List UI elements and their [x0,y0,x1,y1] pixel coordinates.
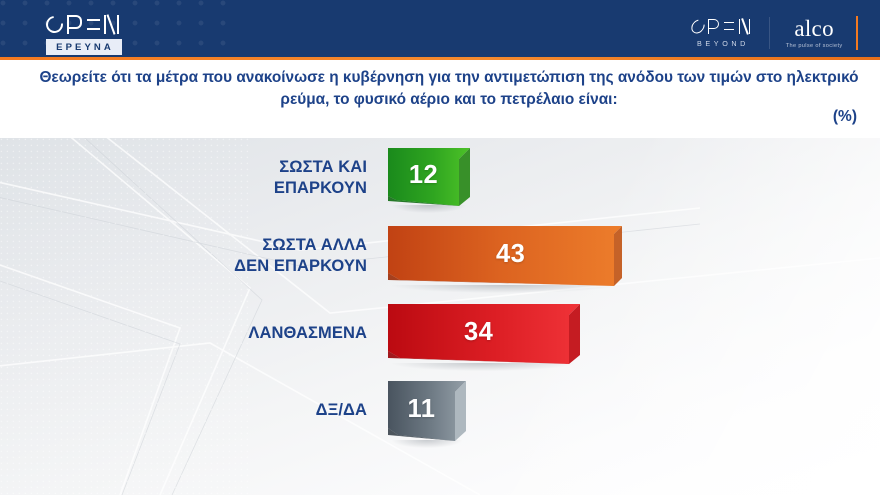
letter-e-icon [723,19,735,34]
bar-value: 12 [388,148,470,206]
bar-rows: ΣΩΣΤΑ ΚΑΙ ΕΠΑΡΚΟΥΝ 12 [0,138,880,495]
bar-value: 11 [388,381,466,441]
open-ereyna-logo: ΕΡΕΥΝΑ [46,13,122,55]
partner-logos: BEYOND alco The pulse of society [692,15,858,50]
bar-value: 34 [388,304,580,364]
letter-p-icon [708,19,720,34]
open-beyond-subtitle: BEYOND [692,39,751,48]
header-bar: ΕΡΕΥΝΑ BEYOND alco The pulse of society [0,0,880,60]
bar-value: 43 [388,226,622,286]
bar-shadow [392,363,574,371]
letter-e-icon [86,15,100,34]
letter-o-icon [43,12,67,36]
bar-label: ΛΑΝΘΑΣΜΕΝΑ [248,323,367,344]
letter-p-icon [67,15,82,34]
ereyna-label: ΕΡΕΥΝΑ [46,39,122,55]
bar-label: ΣΩΣΤΑ ΑΛΛΑ ΔΕΝ ΕΠΑΡΚΟΥΝ [234,235,367,276]
title-band: Θεωρείτε ότι τα μέτρα που ανακοίνωσε η κ… [0,60,880,138]
orange-divider-bar [856,16,859,50]
chart-area: ΣΩΣΤΑ ΚΑΙ ΕΠΑΡΚΟΥΝ 12 [0,138,880,495]
open-beyond-wordmark [692,18,751,35]
bar-shadow [392,285,616,293]
open-beyond-logo: BEYOND [692,18,769,48]
bar-row: ΣΩΣΤΑ ΚΑΙ ΕΠΑΡΚΟΥΝ 12 [0,148,880,206]
bar-red: 34 [388,304,580,364]
bar-label: ΣΩΣΤΑ ΚΑΙ ΕΠΑΡΚΟΥΝ [274,157,367,198]
bar-orange: 43 [388,226,622,286]
alco-tagline: The pulse of society [786,43,843,49]
bar-shadow [392,440,462,448]
alco-wordmark: alco [786,17,843,40]
poll-question: Θεωρείτε ότι τα μέτρα που ανακοίνωσε η κ… [0,67,880,110]
bar-grey: 11 [388,381,466,441]
bar-label: ΔΞ/ΔΑ [316,400,367,421]
bar-row: ΣΩΣΤΑ ΑΛΛΑ ΔΕΝ ΕΠΑΡΚΟΥΝ [0,226,880,286]
bar-green: 12 [388,148,470,206]
bar-row: ΔΞ/ΔΑ 11 [0,381,880,441]
bar-row: ΛΑΝΘΑΣΜΕΝΑ 34 [0,304,880,364]
unit-label: (%) [833,108,857,126]
letter-o-icon [689,16,708,35]
alco-logo: alco The pulse of society [769,17,843,49]
letter-n-icon [739,19,751,34]
letter-n-icon [104,15,119,34]
bar-shadow [392,205,466,213]
open-wordmark [46,13,122,35]
